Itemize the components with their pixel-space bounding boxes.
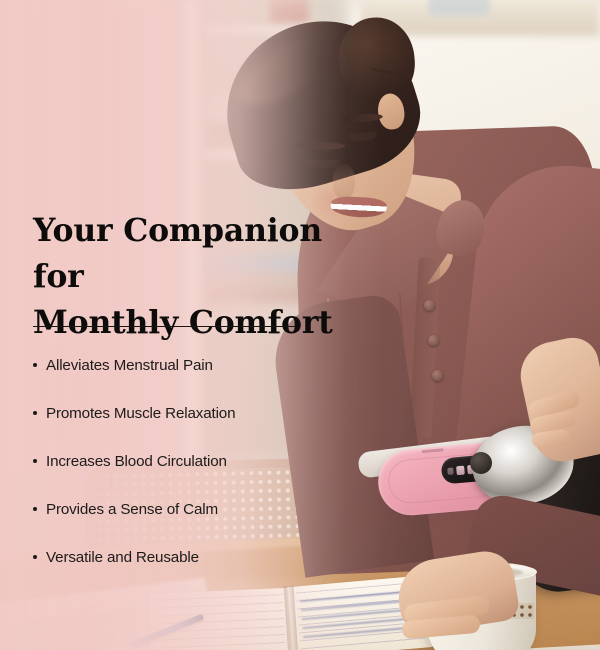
text-content-panel: Your Companion for Monthly Comfort Allev… — [0, 0, 340, 650]
blouse-button — [424, 300, 435, 311]
display-icon — [447, 467, 454, 474]
product-benefits-banner: Your Companion for Monthly Comfort Allev… — [0, 0, 600, 650]
benefit-label: Provides a Sense of Calm — [46, 501, 218, 518]
benefit-label: Versatile and Reusable — [46, 549, 199, 566]
list-item: Promotes Muscle Relaxation — [33, 389, 333, 437]
list-item: Versatile and Reusable — [33, 533, 333, 581]
benefit-label: Increases Blood Circulation — [46, 453, 227, 470]
benefit-label: Alleviates Menstrual Pain — [46, 357, 213, 374]
blouse-button — [428, 335, 439, 346]
bullet-icon — [33, 459, 37, 463]
bullet-icon — [33, 363, 37, 367]
title-divider — [33, 326, 296, 327]
bullet-icon — [33, 411, 37, 415]
benefit-label: Promotes Muscle Relaxation — [46, 405, 235, 422]
display-icon — [456, 465, 465, 475]
list-item: Alleviates Menstrual Pain — [33, 341, 333, 389]
bullet-icon — [33, 555, 37, 559]
benefits-list: Alleviates Menstrual Pain Promotes Muscl… — [33, 341, 333, 581]
shelf-object — [428, 0, 490, 16]
bullet-icon — [33, 507, 37, 511]
kettle-lid-knob — [470, 452, 492, 474]
list-item: Increases Blood Circulation — [33, 437, 333, 485]
blouse-button — [432, 370, 443, 381]
list-item: Provides a Sense of Calm — [33, 485, 333, 533]
